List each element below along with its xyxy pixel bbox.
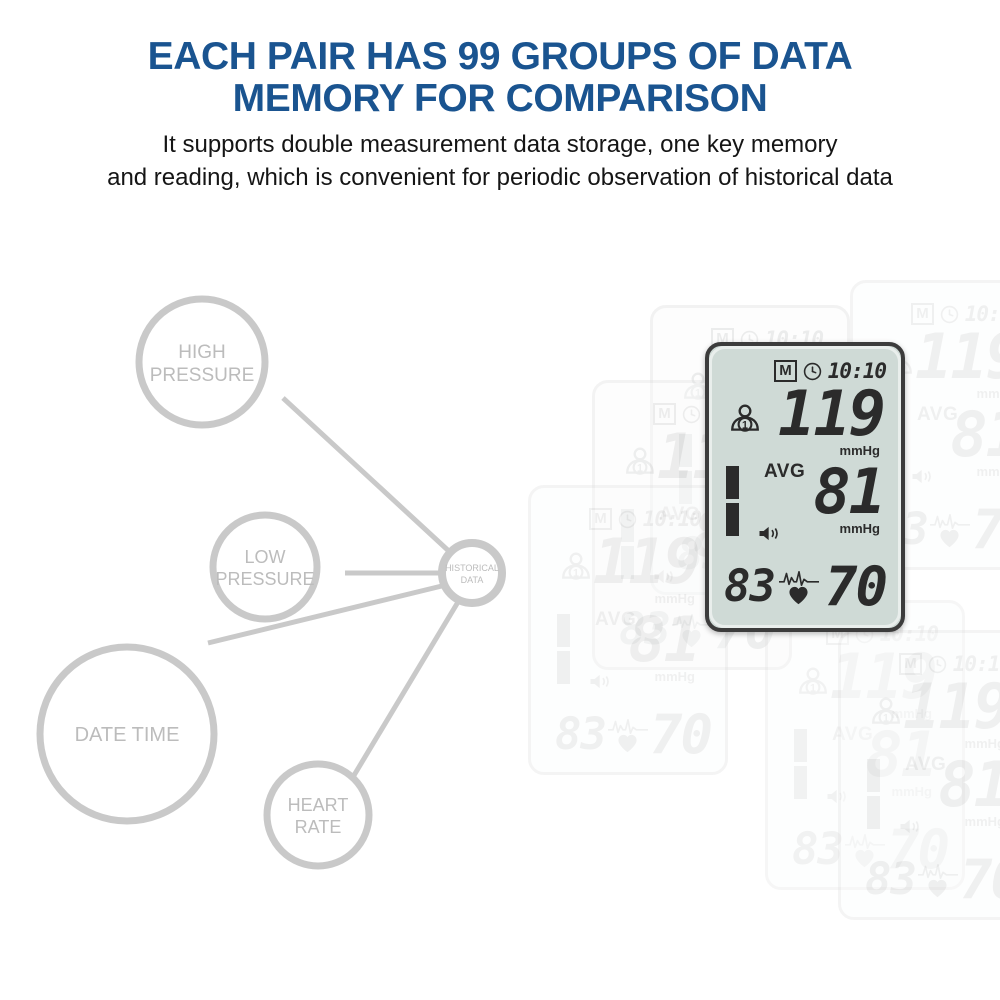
- heart-icon: [927, 879, 948, 898]
- lcd-ghost-content: M 10:10 1: [841, 633, 1000, 917]
- subtitle-line-1: It supports double measurement data stor…: [8, 128, 992, 161]
- node-heart-rate-label-1: HEART: [288, 795, 349, 815]
- node-date-time[interactable]: DATE TIME: [40, 647, 214, 821]
- connector-high-to-center: [283, 398, 452, 554]
- speaker-icon: [588, 672, 613, 691]
- node-high-pressure[interactable]: HIGH PRESSURE: [139, 299, 265, 425]
- lcd-ghost-content-inner: M 10:10 1: [853, 642, 1000, 917]
- node-date-time-label: DATE TIME: [75, 724, 180, 746]
- heart-rate-icon-group: [918, 863, 958, 898]
- heart-icon: [788, 586, 809, 605]
- diastolic-unit: mmHg: [796, 521, 884, 536]
- node-heart-rate-circle: [267, 764, 369, 866]
- node-historical-data-circle: [442, 543, 502, 603]
- node-heart-rate[interactable]: HEART RATE: [267, 764, 369, 866]
- pulse-row: 83 70: [865, 849, 1000, 911]
- page-subtitle: It supports double measurement data stor…: [0, 120, 1000, 194]
- pressure-level-indicator: [726, 466, 739, 536]
- user-1-icon: 1: [559, 550, 593, 584]
- heart-icon: [939, 529, 960, 548]
- header: EACH PAIR HAS 99 GROUPS OF DATA MEMORY F…: [0, 0, 1000, 194]
- speaker-icon: [898, 817, 923, 836]
- speaker-icon: [757, 524, 782, 543]
- pulse-row: 83 70: [555, 704, 701, 766]
- indicator-bar: [794, 766, 807, 799]
- lcd-ghost-content: M 10:10 1: [531, 488, 725, 772]
- pulse-row: 83 70: [724, 556, 886, 618]
- pulse-secondary-value: 83: [792, 829, 843, 871]
- node-heart-rate-label-2: RATE: [295, 817, 342, 837]
- lcd-main-content: M 10:10 1: [712, 349, 898, 626]
- pressure-level-indicator: [557, 614, 570, 684]
- connector-heart-to-center: [350, 592, 464, 782]
- systolic-value: 119: [915, 320, 1000, 393]
- lcd-screen-stack: M 10:10 1: [520, 270, 1000, 930]
- indicator-bar: [726, 466, 739, 499]
- ecg-wave-icon: [930, 513, 970, 530]
- pressure-level-indicator: [867, 759, 880, 829]
- pulse-secondary-value: 83: [555, 714, 606, 756]
- pulse-secondary-value: 83: [865, 859, 916, 901]
- heart-rate-icon-group: [930, 513, 970, 548]
- svg-text:1: 1: [637, 463, 643, 475]
- node-historical-data-label-1: HISTORICAL: [445, 563, 499, 573]
- user-1-icon: 1: [869, 695, 903, 729]
- node-low-pressure-circle: [213, 515, 317, 619]
- subtitle-line-2: and reading, which is convenient for per…: [8, 161, 992, 194]
- systolic-value: 119: [903, 670, 1000, 743]
- systolic-row: 1 119 mmHg: [555, 534, 701, 612]
- ecg-wave-icon: [608, 718, 648, 735]
- avg-label: AVG: [764, 461, 805, 483]
- page-title: EACH PAIR HAS 99 GROUPS OF DATA MEMORY F…: [0, 0, 1000, 120]
- ecg-wave-icon: [779, 570, 819, 587]
- diastolic-value: 81: [938, 748, 1000, 821]
- indicator-bar: [867, 796, 880, 829]
- indicator-bar: [867, 759, 880, 792]
- speaker-icon: [910, 467, 935, 486]
- systolic-row: 1 119 mmHg: [724, 386, 886, 464]
- heart-icon: [617, 734, 638, 753]
- node-high-pressure-label-2: PRESSURE: [150, 365, 255, 386]
- diastolic-value: 81: [628, 603, 699, 676]
- user-1-icon: 1: [728, 402, 762, 436]
- avg-label: AVG: [917, 404, 958, 426]
- lcd-ghost-content-inner: M 10:10 1: [543, 497, 713, 772]
- pulse-rate-value: 70: [650, 710, 711, 760]
- node-historical-data[interactable]: HISTORICAL DATA: [442, 543, 502, 603]
- diastolic-value: 81: [813, 455, 884, 528]
- node-high-pressure-label-1: HIGH: [178, 342, 226, 363]
- pulse-rate-value: 70: [960, 855, 1000, 905]
- pressure-level-indicator: [794, 729, 807, 799]
- avg-label: AVG: [905, 754, 946, 776]
- pulse-secondary-value: 83: [724, 566, 775, 608]
- node-historical-data-label-2: DATA: [461, 575, 484, 585]
- headline-line-2: MEMORY FOR COMPARISON: [70, 78, 930, 120]
- headline-line-1: EACH PAIR HAS 99 GROUPS OF DATA: [70, 36, 930, 78]
- svg-text:1: 1: [883, 713, 889, 725]
- lcd-main-screen[interactable]: M 10:10 1: [705, 342, 905, 632]
- systolic-row: 1 119 mmHg: [865, 679, 1000, 757]
- user-1-icon: 1: [623, 445, 657, 479]
- svg-text:1: 1: [742, 420, 748, 432]
- node-low-pressure-label-2: PRESSURE: [215, 569, 314, 589]
- svg-text:1: 1: [810, 683, 816, 695]
- systolic-value: 119: [778, 377, 884, 450]
- avg-label: AVG: [595, 609, 636, 631]
- pulse-rate-value: 70: [972, 505, 1000, 555]
- node-low-pressure-label-1: LOW: [244, 547, 285, 567]
- indicator-bar: [794, 729, 807, 762]
- heart-rate-icon-group: [608, 718, 648, 753]
- feature-node-diagram: HIGH PRESSURE LOW PRESSURE DATE TIME HEA…: [20, 280, 560, 880]
- svg-text:1: 1: [573, 568, 579, 580]
- lcd-ghost-screen: M 10:10 1: [528, 485, 728, 775]
- lcd-ghost-screen: M 10:10 1: [838, 630, 1000, 920]
- indicator-bar: [557, 614, 570, 647]
- indicator-bar: [557, 651, 570, 684]
- node-low-pressure[interactable]: LOW PRESSURE: [213, 515, 317, 619]
- indicator-bar: [726, 503, 739, 536]
- systolic-value: 119: [593, 525, 699, 598]
- pulse-rate-value: 70: [823, 562, 886, 612]
- ecg-wave-icon: [918, 863, 958, 880]
- user-1-icon: 1: [796, 665, 830, 699]
- heart-rate-icon-group: [777, 570, 821, 605]
